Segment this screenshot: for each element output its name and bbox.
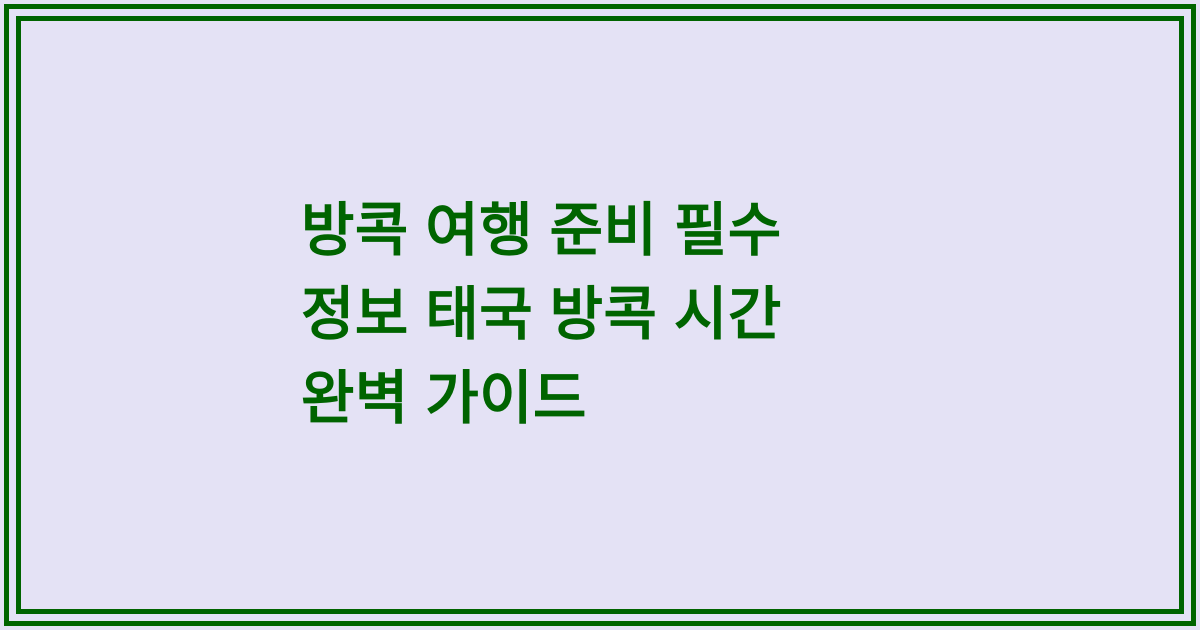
headline-line-2: 정보 태국 방콕 시간 [301, 273, 1139, 357]
thumbnail-card: 방콕 여행 준비 필수 정보 태국 방콕 시간 완벽 가이드 [0, 0, 1200, 630]
inner-border-frame: 방콕 여행 준비 필수 정보 태국 방콕 시간 완벽 가이드 [16, 16, 1184, 614]
headline-block: 방콕 여행 준비 필수 정보 태국 방콕 시간 완벽 가이드 [21, 189, 1179, 441]
headline-line-3: 완벽 가이드 [301, 357, 1139, 441]
outer-border-frame: 방콕 여행 준비 필수 정보 태국 방콕 시간 완벽 가이드 [4, 4, 1196, 626]
headline-line-1: 방콕 여행 준비 필수 [301, 189, 1139, 273]
